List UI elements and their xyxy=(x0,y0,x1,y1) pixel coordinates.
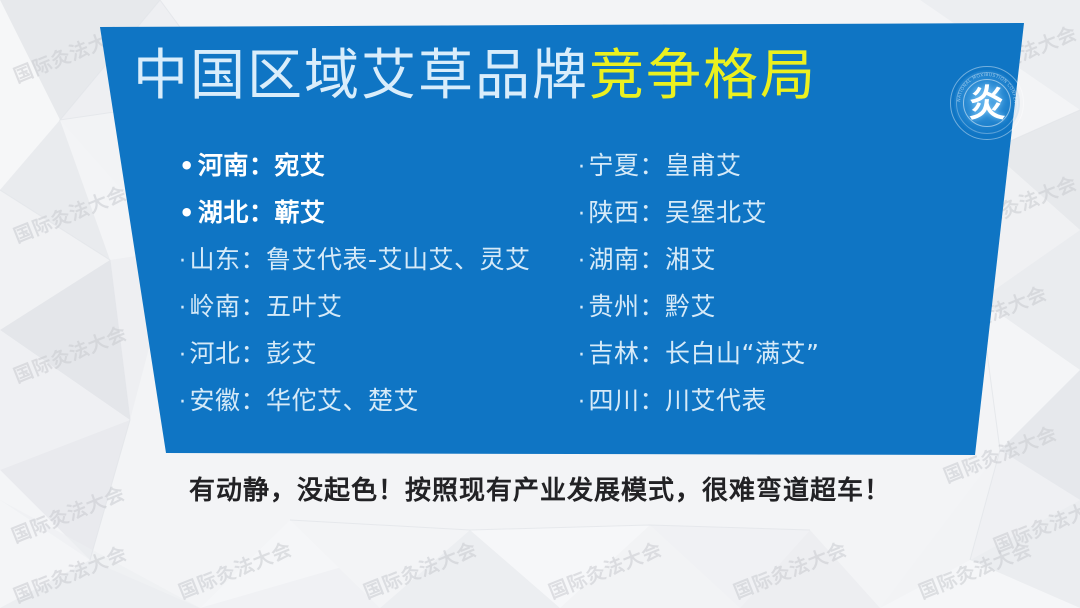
bullet-icon: · xyxy=(578,157,586,179)
slide-root: 国际灸法大会国际灸法大会国际灸法大会国际灸法大会国际灸法大会国际灸法大会国际灸法… xyxy=(0,0,1080,608)
list-item-brand: 五叶艾 xyxy=(266,287,343,323)
list-item-region: 安徽： xyxy=(190,381,267,417)
list-item-region: 湖南： xyxy=(589,240,666,276)
bullet-icon: · xyxy=(179,392,187,414)
list-item-brand: 彭艾 xyxy=(266,334,317,370)
bullet-icon: · xyxy=(179,251,187,273)
list-item: ·湖南：湘艾 xyxy=(578,240,978,287)
list-item-region: 陕西： xyxy=(589,193,666,229)
bullet-icon: • xyxy=(179,201,195,225)
logo-character: 炎 xyxy=(950,66,1024,140)
bullet-icon: · xyxy=(179,298,187,320)
page-title: 中国区域艾草品牌竞争格局 xyxy=(133,48,817,103)
bullet-icon: · xyxy=(578,298,586,320)
list-item-brand: 鲁艾代表-艾山艾、灵艾 xyxy=(266,240,531,276)
list-item-region: 岭南： xyxy=(190,287,267,323)
list-item-brand: 皇甫艾 xyxy=(665,146,742,182)
list-item: ·安徽：华佗艾、楚艾 xyxy=(179,381,579,428)
list-item-region: 湖北： xyxy=(198,193,275,229)
panel-content: 中国区域艾草品牌竞争格局 INTERNATIONAL MOXIBUSTION C… xyxy=(0,0,1080,608)
bullet-icon: • xyxy=(179,154,195,178)
page-title-lead: 中国区域艾草品牌 xyxy=(133,43,589,107)
list-item: ·吉林：长白山“满艾” xyxy=(578,334,978,381)
list-item-region: 吉林： xyxy=(589,334,666,370)
conference-logo-badge: INTERNATIONAL MOXIBUSTION CONFERENCE 炎 xyxy=(950,66,1024,140)
brand-list-right-column: ·宁夏：皇甫艾·陕西：吴堡北艾·湖南：湘艾·贵州：黔艾·吉林：长白山“满艾”·四… xyxy=(578,146,978,428)
list-item-region: 山东： xyxy=(190,240,267,276)
list-item: ·宁夏：皇甫艾 xyxy=(578,146,978,193)
list-item: •湖北：蕲艾 xyxy=(179,193,579,240)
list-item: •河南：宛艾 xyxy=(179,146,579,193)
brand-list-left-column: •河南：宛艾•湖北：蕲艾·山东：鲁艾代表-艾山艾、灵艾·岭南：五叶艾·河北：彭艾… xyxy=(179,146,579,428)
list-item-brand: 宛艾 xyxy=(274,146,325,182)
list-item-region: 宁夏： xyxy=(589,146,666,182)
list-item: ·河北：彭艾 xyxy=(179,334,579,381)
list-item-brand: 川艾代表 xyxy=(665,381,767,417)
list-item-brand: 长白山“满艾” xyxy=(665,334,819,370)
bullet-icon: · xyxy=(578,251,586,273)
bullet-icon: · xyxy=(578,204,586,226)
bullet-icon: · xyxy=(578,392,586,414)
list-item-brand: 蕲艾 xyxy=(274,193,325,229)
list-item-region: 河南： xyxy=(198,146,275,182)
slide-caption: 有动静，没起色！按照现有产业发展模式，很难弯道超车！ xyxy=(0,470,1080,507)
list-item-brand: 黔艾 xyxy=(665,287,716,323)
list-item: ·山东：鲁艾代表-艾山艾、灵艾 xyxy=(179,240,579,287)
list-item: ·四川：川艾代表 xyxy=(578,381,978,428)
list-item: ·陕西：吴堡北艾 xyxy=(578,193,978,240)
list-item: ·贵州：黔艾 xyxy=(578,287,978,334)
list-item-region: 四川： xyxy=(589,381,666,417)
list-item-region: 贵州： xyxy=(589,287,666,323)
list-item-region: 河北： xyxy=(190,334,267,370)
bullet-icon: · xyxy=(578,345,586,367)
list-item-brand: 吴堡北艾 xyxy=(665,193,767,229)
page-title-accent: 竞争格局 xyxy=(589,43,817,107)
list-item: ·岭南：五叶艾 xyxy=(179,287,579,334)
list-item-brand: 华佗艾、楚艾 xyxy=(266,381,419,417)
bullet-icon: · xyxy=(179,345,187,367)
list-item-brand: 湘艾 xyxy=(665,240,716,276)
